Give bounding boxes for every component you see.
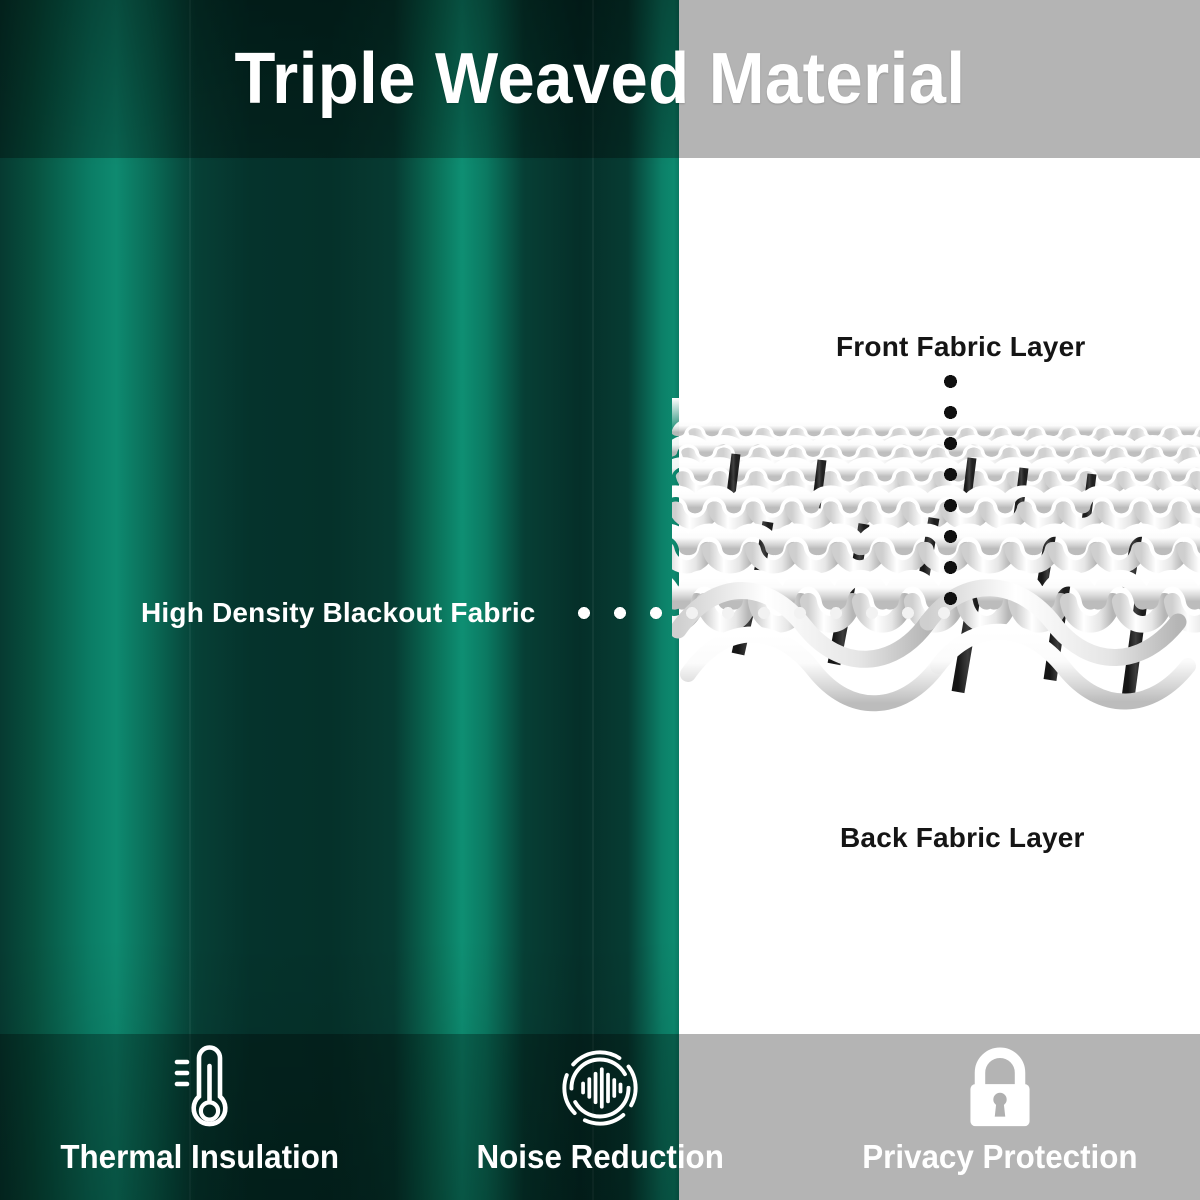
feature-label: Privacy Protection <box>862 1140 1137 1173</box>
page-title: Triple Weaved Material <box>235 43 966 115</box>
header-banner: Triple Weaved Material <box>0 0 1200 158</box>
thermometer-icon <box>159 1042 241 1134</box>
feature-bar: Thermal Insulation <box>0 1034 1200 1200</box>
feature-label: Thermal Insulation <box>61 1140 340 1173</box>
feature-privacy-protection: Privacy Protection <box>800 1034 1200 1200</box>
front-layer-leader-line <box>944 366 957 620</box>
front-fabric-layer-label: Front Fabric Layer <box>836 333 1085 361</box>
woven-fabric-illustration <box>672 398 1200 738</box>
padlock-icon <box>959 1042 1041 1134</box>
middle-layer-leader-line-over-weave <box>674 607 958 619</box>
blackout-fabric-label: High Density Blackout Fabric <box>141 599 536 627</box>
infographic-canvas: Front Fabric Layer Back Fabric Layer Hig… <box>0 0 1200 1200</box>
curtain-pleat-seam <box>592 0 594 1200</box>
feature-noise-reduction: Noise Reduction <box>400 1034 800 1200</box>
sound-wave-icon <box>559 1042 641 1134</box>
feature-thermal-insulation: Thermal Insulation <box>0 1034 400 1200</box>
back-fabric-layer-label: Back Fabric Layer <box>840 824 1085 852</box>
feature-label: Noise Reduction <box>476 1140 723 1173</box>
